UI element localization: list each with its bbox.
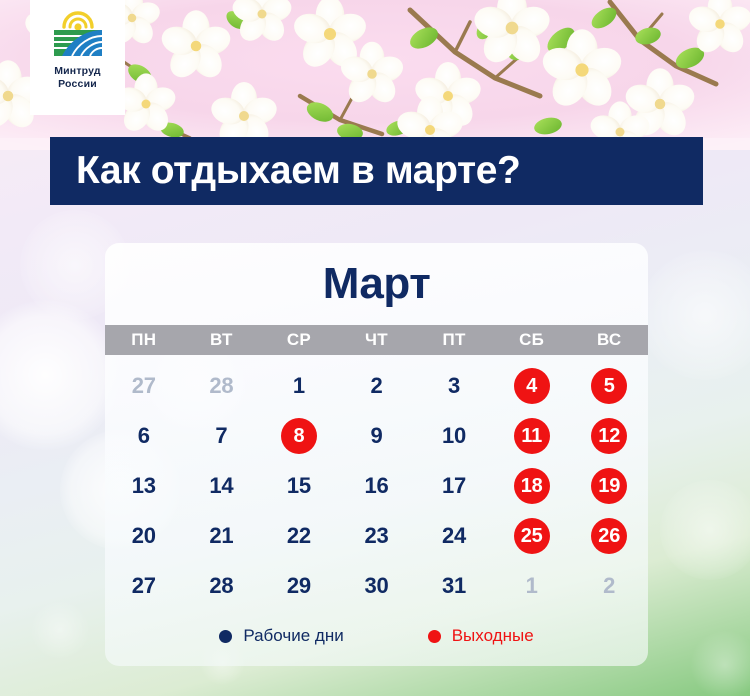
calendar-day-number: 23 xyxy=(364,525,388,547)
calendar-day-number: 14 xyxy=(209,475,233,497)
calendar-day-cell[interactable]: 13 xyxy=(105,461,183,511)
calendar-day-cell[interactable]: 3 xyxy=(415,361,493,411)
calendar-day-number: 24 xyxy=(442,525,466,547)
calendar-day-cell[interactable]: 10 xyxy=(415,411,493,461)
calendar-week-row: 20212223242526 xyxy=(105,511,648,561)
calendar-day-number: 5 xyxy=(591,368,627,404)
calendar-day-cell[interactable]: 4 xyxy=(493,361,571,411)
calendar-day-number: 26 xyxy=(591,518,627,554)
calendar-week-row: 13141516171819 xyxy=(105,461,648,511)
calendar-day-number: 28 xyxy=(209,575,233,597)
calendar-day-number: 29 xyxy=(287,575,311,597)
calendar-day-number: 1 xyxy=(293,375,305,397)
ministry-logo-text: Минтруд России xyxy=(54,65,101,91)
weekday-header-1: ВТ xyxy=(183,325,261,355)
calendar-week-row: 272829303112 xyxy=(105,561,648,611)
calendar-week-row: 6789101112 xyxy=(105,411,648,461)
legend-weekend-days: Выходные xyxy=(428,626,534,646)
calendar-grid: 2728123456789101112131415161718192021222… xyxy=(105,355,648,611)
calendar-day-number: 10 xyxy=(442,425,466,447)
calendar-day-cell[interactable]: 25 xyxy=(493,511,571,561)
calendar-day-cell[interactable]: 28 xyxy=(183,561,261,611)
calendar-day-cell[interactable]: 5 xyxy=(570,361,648,411)
calendar-day-cell[interactable]: 21 xyxy=(183,511,261,561)
calendar-day-cell[interactable]: 12 xyxy=(570,411,648,461)
calendar-day-number: 31 xyxy=(442,575,466,597)
calendar-day-cell[interactable]: 20 xyxy=(105,511,183,561)
calendar-day-number: 7 xyxy=(215,425,227,447)
bokeh-circle xyxy=(690,630,750,696)
weekday-header-3: ЧТ xyxy=(338,325,416,355)
weekday-header-5: СБ xyxy=(493,325,571,355)
weekday-header-2: СР xyxy=(260,325,338,355)
logo-line-2: России xyxy=(54,78,101,91)
weekday-header-0: ПН xyxy=(105,325,183,355)
calendar-month-title: Март xyxy=(105,243,648,325)
calendar-day-number: 16 xyxy=(364,475,388,497)
calendar-day-cell[interactable]: 1 xyxy=(260,361,338,411)
calendar-day-cell[interactable]: 2 xyxy=(338,361,416,411)
calendar-day-cell[interactable]: 11 xyxy=(493,411,571,461)
title-banner: Как отдыхаем в марте? xyxy=(50,137,703,205)
ministry-logo: Минтруд России xyxy=(30,0,125,115)
calendar-day-number: 17 xyxy=(442,475,466,497)
calendar-day-cell[interactable]: 2 xyxy=(570,561,648,611)
calendar-day-number: 27 xyxy=(132,575,156,597)
legend-working-dot-icon xyxy=(219,630,232,643)
calendar-day-number: 28 xyxy=(209,375,233,397)
calendar-day-cell[interactable]: 30 xyxy=(338,561,416,611)
calendar-day-number: 30 xyxy=(364,575,388,597)
calendar-day-number: 21 xyxy=(209,525,233,547)
bokeh-circle xyxy=(0,300,120,450)
calendar-day-cell[interactable]: 23 xyxy=(338,511,416,561)
weekday-header-4: ПТ xyxy=(415,325,493,355)
calendar-day-number: 8 xyxy=(281,418,317,454)
logo-line-1: Минтруд xyxy=(54,65,101,78)
calendar-day-cell[interactable]: 8 xyxy=(260,411,338,461)
calendar-day-cell[interactable]: 1 xyxy=(493,561,571,611)
calendar-day-cell[interactable]: 28 xyxy=(183,361,261,411)
calendar-day-cell[interactable]: 26 xyxy=(570,511,648,561)
calendar-day-cell[interactable]: 19 xyxy=(570,461,648,511)
legend-weekend-label: Выходные xyxy=(452,626,534,646)
legend-working-label: Рабочие дни xyxy=(243,626,343,646)
calendar-day-cell[interactable]: 14 xyxy=(183,461,261,511)
bokeh-circle xyxy=(640,250,750,380)
calendar-day-cell[interactable]: 29 xyxy=(260,561,338,611)
calendar-day-cell[interactable]: 9 xyxy=(338,411,416,461)
calendar-day-number: 6 xyxy=(138,425,150,447)
calendar-day-number: 9 xyxy=(370,425,382,447)
calendar-day-cell[interactable]: 27 xyxy=(105,561,183,611)
calendar-day-number: 2 xyxy=(370,375,382,397)
calendar-legend: Рабочие дни Выходные xyxy=(105,626,648,646)
legend-weekend-dot-icon xyxy=(428,630,441,643)
ministry-emblem-icon xyxy=(50,10,106,60)
calendar-day-cell[interactable]: 27 xyxy=(105,361,183,411)
calendar-day-number: 11 xyxy=(514,418,550,454)
calendar-day-cell[interactable]: 31 xyxy=(415,561,493,611)
calendar-day-number: 4 xyxy=(514,368,550,404)
calendar-day-cell[interactable]: 15 xyxy=(260,461,338,511)
calendar-card: Март ПНВТСРЧТПТСБВС 27281234567891011121… xyxy=(105,243,648,666)
calendar-day-cell[interactable]: 18 xyxy=(493,461,571,511)
calendar-day-number: 2 xyxy=(603,575,615,597)
bokeh-circle xyxy=(660,480,750,580)
bokeh-circle xyxy=(30,600,90,660)
calendar-day-number: 25 xyxy=(514,518,550,554)
calendar-day-cell[interactable]: 24 xyxy=(415,511,493,561)
calendar-day-number: 15 xyxy=(287,475,311,497)
calendar-day-cell[interactable]: 7 xyxy=(183,411,261,461)
calendar-day-number: 1 xyxy=(526,575,538,597)
calendar-day-cell[interactable]: 17 xyxy=(415,461,493,511)
calendar-day-number: 27 xyxy=(132,375,156,397)
poster-root: Минтруд России Как отдыхаем в марте? Мар… xyxy=(0,0,750,696)
calendar-day-number: 12 xyxy=(591,418,627,454)
calendar-weekday-header: ПНВТСРЧТПТСБВС xyxy=(105,325,648,355)
legend-working-days: Рабочие дни xyxy=(219,626,343,646)
calendar-day-cell[interactable]: 6 xyxy=(105,411,183,461)
calendar-day-cell[interactable]: 22 xyxy=(260,511,338,561)
weekday-header-6: ВС xyxy=(570,325,648,355)
calendar-day-number: 3 xyxy=(448,375,460,397)
calendar-day-number: 22 xyxy=(287,525,311,547)
calendar-day-number: 13 xyxy=(132,475,156,497)
calendar-day-number: 20 xyxy=(132,525,156,547)
calendar-day-number: 18 xyxy=(514,468,550,504)
calendar-week-row: 272812345 xyxy=(105,361,648,411)
page-title: Как отдыхаем в марте? xyxy=(50,149,520,193)
calendar-day-number: 19 xyxy=(591,468,627,504)
calendar-day-cell[interactable]: 16 xyxy=(338,461,416,511)
